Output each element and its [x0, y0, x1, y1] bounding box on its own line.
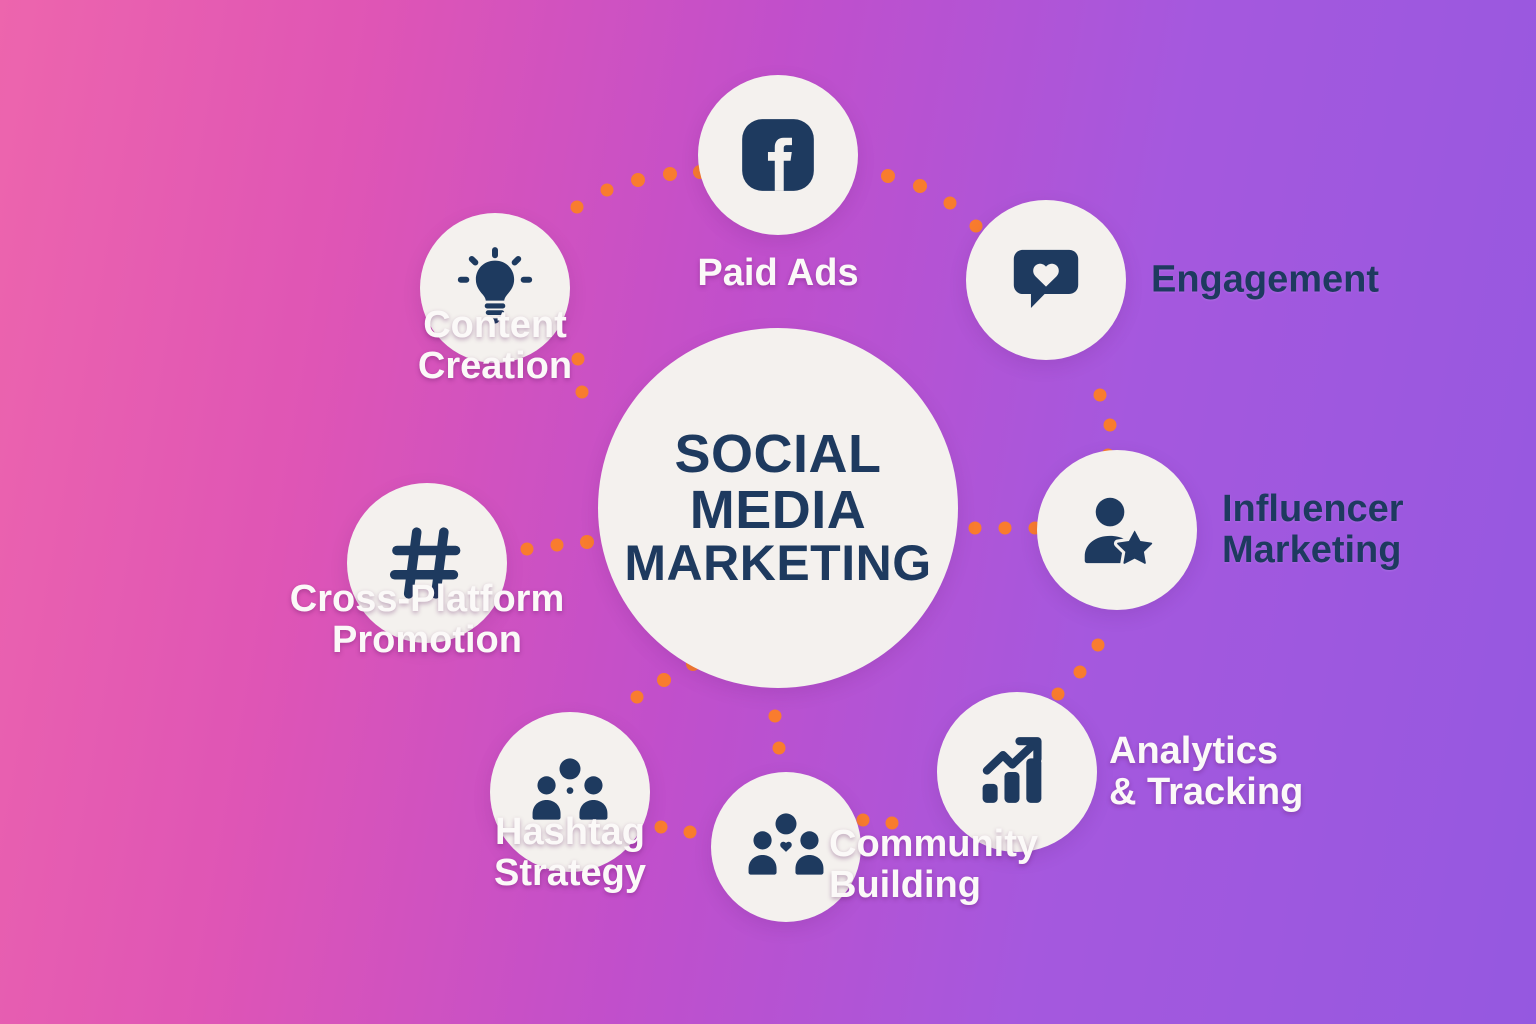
connector-dot: [521, 543, 534, 556]
engagement-label: Engagement: [1151, 259, 1379, 300]
cross-platform-promotion-label: Cross-Platform Promotion: [290, 579, 565, 661]
connector-dot: [1104, 419, 1117, 432]
hub-title-line1: SOCIAL: [674, 427, 881, 482]
hub-title-line2: MEDIA: [690, 483, 867, 538]
connector-dot: [773, 742, 786, 755]
content-creation-label: Content Creation: [418, 305, 572, 387]
paid-ads-circle[interactable]: [698, 75, 858, 235]
connector-dot: [601, 184, 614, 197]
person-star-icon: [1073, 486, 1161, 574]
node-content-creation[interactable]: Content Creation: [420, 213, 570, 363]
connector-dot: [913, 179, 927, 193]
node-community-building[interactable]: Community Building: [711, 772, 861, 922]
influencer-marketing-circle[interactable]: [1037, 450, 1197, 610]
connector-dot: [684, 826, 697, 839]
hub-title-line3: MARKETING: [624, 538, 931, 589]
connector-dot: [881, 169, 895, 183]
node-influencer-marketing[interactable]: Influencer Marketing: [1037, 450, 1197, 610]
node-cross-platform-promotion[interactable]: Cross-Platform Promotion: [347, 483, 507, 643]
connector-dot: [571, 201, 584, 214]
node-paid-ads[interactable]: Paid Ads: [698, 75, 858, 235]
connector-dot: [572, 353, 585, 366]
connector-dot: [551, 539, 564, 552]
connector-dot: [631, 691, 644, 704]
connector-dot: [1094, 389, 1107, 402]
connector-dot: [576, 386, 589, 399]
engagement-circle[interactable]: [966, 200, 1126, 360]
connector-dot: [631, 173, 645, 187]
infographic-canvas: SOCIAL MEDIA MARKETING Paid Ads: [0, 0, 1536, 1024]
node-hashtag-strategy[interactable]: Hashtag Strategy: [490, 712, 650, 872]
community-building-label: Community Building: [829, 824, 1038, 906]
connector-dot: [944, 197, 957, 210]
chat-heart-icon: [1004, 238, 1088, 322]
connector-dot: [769, 710, 782, 723]
connector-dot: [580, 535, 594, 549]
hub-circle: SOCIAL MEDIA MARKETING: [598, 328, 958, 688]
connector-dot: [969, 522, 982, 535]
connector-dot: [1092, 639, 1105, 652]
hub-node: SOCIAL MEDIA MARKETING: [598, 328, 958, 688]
paid-ads-label: Paid Ads: [697, 253, 858, 294]
facebook-icon: [735, 112, 821, 198]
connector-dot: [999, 522, 1012, 535]
people-heart-icon: [744, 805, 828, 889]
influencer-marketing-label: Influencer Marketing: [1222, 489, 1404, 571]
connector-dot: [655, 821, 668, 834]
analytics-tracking-label: Analytics & Tracking: [1109, 731, 1303, 813]
connector-dot: [663, 167, 677, 181]
hashtag-strategy-label: Hashtag Strategy: [494, 812, 646, 894]
connector-dot: [1074, 666, 1087, 679]
node-engagement[interactable]: Engagement: [966, 200, 1126, 360]
growth-chart-icon: [974, 729, 1060, 815]
